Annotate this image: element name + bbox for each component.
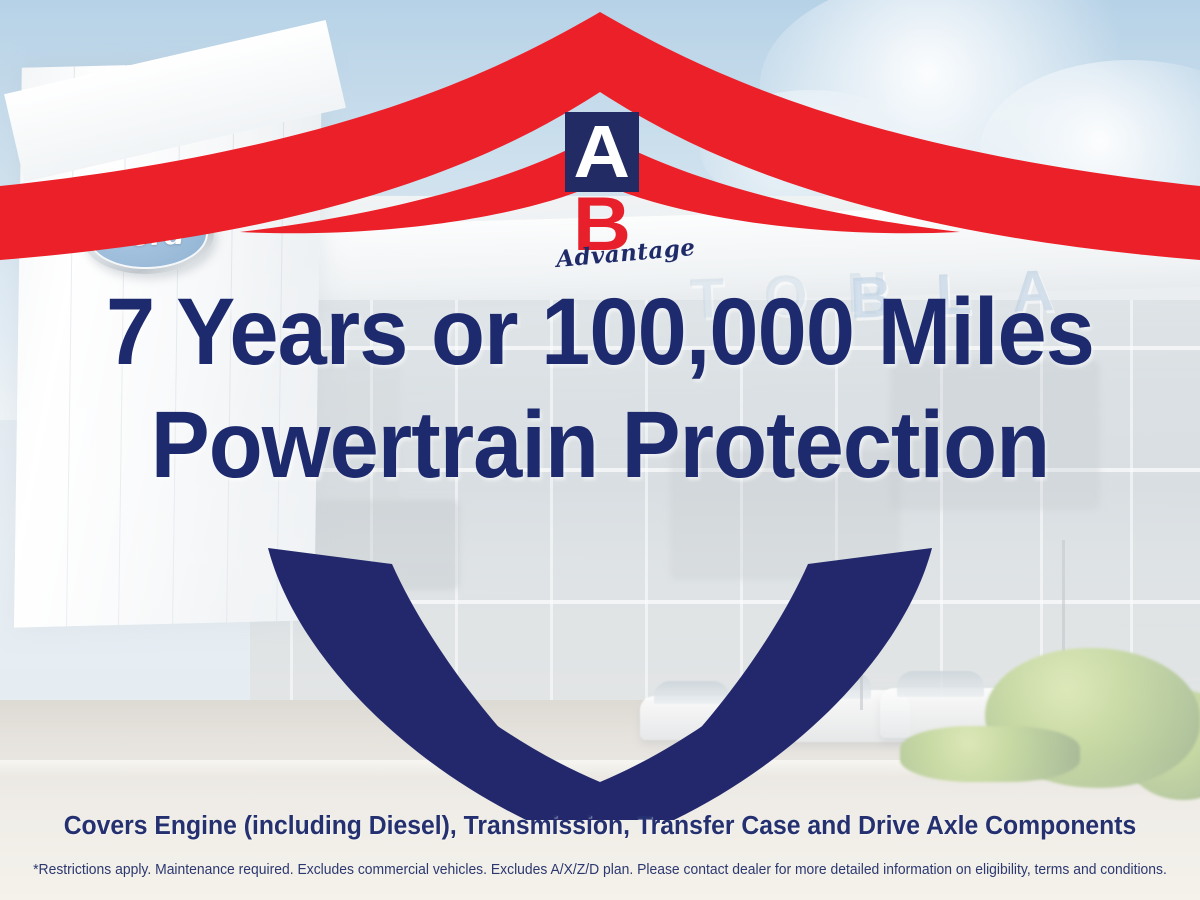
ab-advantage-logo: A B Advantage [556, 112, 648, 282]
logo-letter-a: A [574, 121, 631, 183]
coverage-text: Covers Engine (including Diesel), Transm… [18, 812, 1182, 841]
promo-banner: Ford T O N B L A A B Advantage 7 Y [0, 0, 1200, 900]
headline-line-2: Powertrain Protection [42, 399, 1158, 492]
logo-letter-a-box: A [565, 112, 639, 192]
headline-line-1: 7 Years or 100,000 Miles [42, 286, 1158, 379]
disclaimer-text: *Restrictions apply. Maintenance require… [24, 862, 1176, 878]
navy-chevron-graphic [0, 520, 1200, 820]
page-title: 7 Years or 100,000 Miles Powertrain Prot… [0, 286, 1200, 492]
